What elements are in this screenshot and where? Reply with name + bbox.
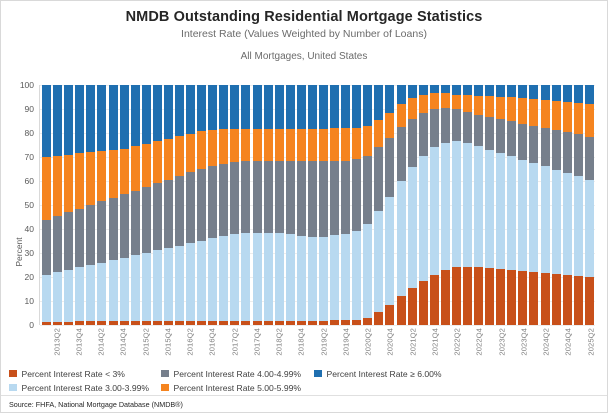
bar-segment (430, 147, 439, 274)
bar-segment (430, 109, 439, 147)
bar-segment (253, 85, 262, 129)
bar-segment (97, 151, 106, 201)
x-tick-label: 2018Q4 (297, 328, 306, 356)
bar-segment (363, 85, 372, 126)
x-tick-label: 2019Q2 (319, 328, 328, 356)
bar-segment (363, 224, 372, 318)
bar-segment (230, 85, 239, 129)
bar-segment (164, 180, 173, 248)
y-tick-label: 60 (25, 177, 34, 185)
bar-segment (120, 194, 129, 258)
bar-segment (319, 85, 328, 129)
bar-segment (385, 197, 394, 305)
bar-segment (75, 209, 84, 268)
bar-column[interactable] (208, 85, 217, 325)
legend-5to599[interactable]: Percent Interest Rate 5.00-5.99% (161, 383, 301, 393)
bar-segment (441, 270, 450, 325)
bar-segment (330, 161, 339, 235)
bar-segment (529, 99, 538, 125)
bar-segment (341, 234, 350, 320)
x-tick-label: 2025Q2 (586, 328, 595, 356)
bar-column[interactable] (441, 85, 450, 325)
y-tick-label: 50 (25, 201, 34, 209)
bar-segment (86, 85, 95, 152)
bar-segment (374, 120, 383, 148)
bar-segment (53, 272, 62, 321)
bar-segment (275, 233, 284, 321)
bar-segment (241, 129, 250, 161)
bar-segment (552, 130, 561, 170)
bar-column[interactable] (186, 85, 195, 325)
bar-segment (264, 85, 273, 129)
bar-segment (585, 104, 594, 136)
bar-segment (363, 126, 372, 156)
bar-segment (463, 112, 472, 143)
bar-segment (197, 131, 206, 168)
bar-segment (64, 85, 73, 155)
bar-segment (97, 201, 106, 262)
bar-column[interactable] (219, 85, 228, 325)
bar-segment (131, 191, 140, 256)
bar-segment (529, 85, 538, 99)
bar-segment (518, 160, 527, 272)
bar-segment (86, 152, 95, 205)
bar-segment (297, 161, 306, 235)
bar-segment (441, 93, 450, 107)
chart-frame: NMDB Outstanding Residential Mortgage St… (0, 0, 608, 413)
bar-segment (552, 274, 561, 325)
bar-segment (352, 231, 361, 320)
bar-segment (230, 162, 239, 234)
bar-segment (452, 95, 461, 109)
bar-segment (109, 260, 118, 321)
bar-segment (230, 129, 239, 163)
bar-segment (585, 137, 594, 180)
bar-segment (352, 128, 361, 159)
bar-segment (430, 93, 439, 109)
legend-label: Percent Interest Rate 3.00-3.99% (22, 383, 150, 393)
bar-segment (374, 147, 383, 211)
bar-segment (97, 85, 106, 151)
bar-column[interactable] (430, 85, 439, 325)
bar-segment (275, 85, 284, 129)
bar-segment (308, 237, 317, 321)
bar-segment (574, 85, 583, 103)
bar-segment (507, 85, 516, 97)
x-tick-label: 2022Q2 (453, 328, 462, 356)
bar-segment (452, 141, 461, 267)
bar-segment (441, 85, 450, 93)
bar-segment (463, 267, 472, 325)
plot-canvas (39, 85, 595, 325)
chart-subtitle: Interest Rate (Values Weighted by Number… (1, 27, 607, 42)
bar-segment (275, 161, 284, 233)
bar-segment (518, 271, 527, 325)
bar-column[interactable] (142, 85, 151, 325)
bar-segment (408, 167, 417, 288)
y-tick-label: 0 (29, 321, 34, 329)
bar-column[interactable] (131, 85, 140, 325)
bar-segment (474, 267, 483, 325)
bar-segment (541, 85, 550, 100)
x-tick-label: 2021Q4 (430, 328, 439, 356)
y-tick-label: 10 (25, 297, 34, 305)
bar-column[interactable] (452, 85, 461, 325)
bar-segment (186, 85, 195, 134)
bar-segment (53, 216, 62, 272)
bar-segment (253, 161, 262, 233)
x-tick-label: 2016Q4 (208, 328, 217, 356)
bar-segment (241, 85, 250, 129)
bar-segment (507, 121, 516, 156)
bar-segment (153, 85, 162, 141)
x-tick-label: 2021Q2 (408, 328, 417, 356)
bar-column[interactable] (241, 85, 250, 325)
legend-row: Percent Interest Rate < 3%Percent Intere… (9, 367, 608, 380)
plot-area: Percent 1009080706050403020100 2013Q2201… (1, 79, 608, 351)
bar-segment (529, 272, 538, 325)
legend-swatch (314, 370, 322, 378)
bar-segment (341, 128, 350, 160)
x-tick-label: 2016Q2 (186, 328, 195, 356)
bar-segment (385, 305, 394, 325)
bar-segment (253, 129, 262, 161)
bar-column[interactable] (86, 85, 95, 325)
legend-swatch (9, 384, 17, 392)
legend-swatch (9, 370, 17, 378)
bar-segment (563, 173, 572, 275)
bar-column[interactable] (585, 85, 594, 325)
bar-segment (286, 161, 295, 234)
bar-segment (186, 243, 195, 321)
bar-segment (541, 100, 550, 128)
bar-segment (408, 85, 417, 98)
bar-segment (452, 267, 461, 325)
bar-segment (385, 138, 394, 197)
x-tick-label: 2024Q2 (542, 328, 551, 356)
bar-segment (585, 85, 594, 104)
x-tick-label: 2014Q2 (97, 328, 106, 356)
bar-column[interactable] (485, 85, 494, 325)
bar-segment (186, 134, 195, 172)
bar-column[interactable] (109, 85, 118, 325)
bar-segment (208, 238, 217, 321)
bar-segment (53, 156, 62, 216)
bar-segment (175, 136, 184, 176)
bar-segment (175, 176, 184, 246)
y-tick-label: 90 (25, 105, 34, 113)
bar-segment (164, 139, 173, 180)
bar-segment (496, 153, 505, 269)
bar-column[interactable] (419, 85, 428, 325)
bar-segment (308, 85, 317, 129)
x-tick-label: 2018Q2 (275, 328, 284, 356)
bar-segment (153, 141, 162, 183)
bar-segment (541, 128, 550, 166)
bar-segment (552, 101, 561, 130)
bar-segment (397, 181, 406, 296)
bar-segment (297, 85, 306, 129)
bar-segment (219, 85, 228, 129)
bar-segment (397, 85, 406, 104)
bar-segment (131, 146, 140, 190)
bar-segment (485, 268, 494, 325)
bar-segment (153, 183, 162, 250)
y-tick-label: 40 (25, 225, 34, 233)
bar-segment (297, 236, 306, 321)
bar-segment (42, 275, 51, 322)
bar-segment (297, 129, 306, 161)
x-tick-label: 2020Q2 (364, 328, 373, 356)
bar-segment (241, 233, 250, 321)
bar-segment (363, 156, 372, 224)
bar-segment (430, 85, 439, 93)
bar-segment (164, 248, 173, 321)
bar-segment (53, 85, 62, 156)
bar-column[interactable] (330, 85, 339, 325)
x-tick-label: 2015Q4 (163, 328, 172, 356)
bar-segment (208, 166, 217, 238)
chart-titles: NMDB Outstanding Residential Mortgage St… (1, 1, 607, 64)
bar-segment (64, 212, 73, 270)
legend-label: Percent Interest Rate 4.00-4.99% (174, 369, 302, 379)
y-axis-ticks: 1009080706050403020100 (1, 79, 37, 351)
bar-segment (86, 265, 95, 321)
bar-segment (541, 273, 550, 325)
bar-column[interactable] (297, 85, 306, 325)
bar-segment (385, 113, 394, 138)
bar-segment (131, 255, 140, 321)
x-tick-label: 2013Q4 (74, 328, 83, 356)
y-tick-label: 100 (20, 81, 34, 89)
x-tick-label: 2013Q2 (52, 328, 61, 356)
bar-column[interactable] (397, 85, 406, 325)
bar-segment (485, 117, 494, 149)
bar-segment (419, 113, 428, 156)
bar-column[interactable] (253, 85, 262, 325)
bar-column[interactable] (552, 85, 561, 325)
stacked-bars (40, 85, 595, 325)
chart-title: NMDB Outstanding Residential Mortgage St… (1, 9, 607, 26)
bar-column[interactable] (64, 85, 73, 325)
bar-column[interactable] (496, 85, 505, 325)
bar-segment (341, 161, 350, 234)
legend-3to399[interactable]: Percent Interest Rate 3.00-3.99% (9, 383, 149, 393)
bar-segment (585, 277, 594, 325)
bar-column[interactable] (120, 85, 129, 325)
y-tick-label: 80 (25, 129, 34, 137)
bar-segment (308, 161, 317, 237)
bar-column[interactable] (529, 85, 538, 325)
bar-column[interactable] (374, 85, 383, 325)
bar-segment (397, 296, 406, 325)
bar-segment (574, 103, 583, 134)
bar-segment (120, 85, 129, 149)
bar-segment (120, 149, 129, 195)
bar-segment (518, 85, 527, 98)
bar-segment (97, 263, 106, 322)
bar-segment (474, 85, 483, 96)
bar-segment (485, 85, 494, 96)
x-tick-label: 2024Q4 (564, 328, 573, 356)
bar-segment (408, 119, 417, 167)
bar-segment (197, 85, 206, 131)
bar-segment (485, 96, 494, 118)
legend-ge6[interactable]: Percent Interest Rate ≥ 6.00% (314, 369, 442, 379)
bar-segment (552, 85, 561, 101)
bar-segment (463, 143, 472, 267)
bar-segment (164, 85, 173, 139)
bar-column[interactable] (463, 85, 472, 325)
y-tick-label: 20 (25, 273, 34, 281)
bar-segment (507, 97, 516, 121)
bar-segment (131, 85, 140, 146)
bar-segment (496, 85, 505, 97)
source-note: Source: FHFA, National Mortgage Database… (1, 396, 608, 409)
legend-lt3[interactable]: Percent Interest Rate < 3% (9, 369, 125, 379)
x-tick-label: 2017Q4 (252, 328, 261, 356)
bar-segment (363, 318, 372, 325)
x-tick-label: 2019Q4 (341, 328, 350, 356)
bar-column[interactable] (474, 85, 483, 325)
bar-segment (109, 85, 118, 150)
bar-segment (419, 156, 428, 281)
bar-segment (419, 95, 428, 113)
bar-column[interactable] (53, 85, 62, 325)
bar-segment (64, 270, 73, 322)
bar-column[interactable] (352, 85, 361, 325)
bar-column[interactable] (153, 85, 162, 325)
bar-segment (374, 211, 383, 312)
bar-segment (42, 157, 51, 219)
bar-column[interactable] (518, 85, 527, 325)
bar-segment (219, 164, 228, 236)
bar-segment (496, 119, 505, 153)
bar-segment (374, 85, 383, 120)
bar-segment (75, 267, 84, 321)
bar-segment (286, 234, 295, 320)
bar-segment (441, 143, 450, 270)
bar-segment (419, 85, 428, 95)
bar-column[interactable] (341, 85, 350, 325)
bar-column[interactable] (42, 85, 51, 325)
bar-segment (552, 170, 561, 274)
bar-segment (42, 220, 51, 275)
bar-column[interactable] (385, 85, 394, 325)
bar-segment (563, 275, 572, 325)
x-tick-label: 2014Q4 (119, 328, 128, 356)
bar-segment (474, 115, 483, 146)
bar-column[interactable] (230, 85, 239, 325)
bar-segment (175, 246, 184, 322)
bar-segment (264, 161, 273, 233)
bar-segment (507, 156, 516, 270)
bar-segment (319, 129, 328, 161)
bar-segment (330, 85, 339, 128)
bar-segment (208, 85, 217, 130)
bar-segment (109, 150, 118, 198)
bar-column[interactable] (75, 85, 84, 325)
bar-segment (241, 161, 250, 233)
bar-segment (474, 96, 483, 115)
bar-segment (452, 109, 461, 141)
bar-segment (319, 161, 328, 237)
bar-segment (485, 150, 494, 269)
bar-segment (208, 130, 217, 166)
bar-column[interactable] (286, 85, 295, 325)
bar-segment (142, 187, 151, 253)
bar-column[interactable] (164, 85, 173, 325)
x-tick-label: 2023Q4 (519, 328, 528, 356)
bar-column[interactable] (197, 85, 206, 325)
chart-scope-label: All Mortgages, United States (1, 49, 607, 64)
bar-segment (175, 85, 184, 136)
x-tick-label: 2015Q2 (141, 328, 150, 356)
bar-segment (574, 276, 583, 325)
legend-swatch (161, 384, 169, 392)
bar-segment (496, 97, 505, 120)
bar-segment (574, 134, 583, 176)
bar-column[interactable] (175, 85, 184, 325)
bar-column[interactable] (264, 85, 273, 325)
bar-segment (529, 163, 538, 272)
bar-segment (219, 236, 228, 321)
bar-segment (507, 270, 516, 325)
x-tick-label: 2023Q2 (497, 328, 506, 356)
bar-column[interactable] (308, 85, 317, 325)
y-tick-label: 30 (25, 249, 34, 257)
bar-segment (264, 233, 273, 321)
bar-segment (109, 198, 118, 260)
x-tick-label: 2017Q2 (230, 328, 239, 356)
bar-segment (463, 95, 472, 112)
bar-column[interactable] (363, 85, 372, 325)
bar-segment (219, 129, 228, 164)
bar-column[interactable] (319, 85, 328, 325)
bar-segment (518, 98, 527, 123)
bar-segment (352, 85, 361, 128)
bar-column[interactable] (574, 85, 583, 325)
bar-column[interactable] (408, 85, 417, 325)
bar-segment (319, 237, 328, 321)
bar-column[interactable] (507, 85, 516, 325)
bar-segment (253, 233, 262, 321)
bar-column[interactable] (541, 85, 550, 325)
bar-segment (120, 258, 129, 322)
legend-swatch (161, 370, 169, 378)
bar-segment (142, 85, 151, 144)
bar-segment (275, 129, 284, 161)
bar-segment (197, 241, 206, 321)
bar-segment (585, 180, 594, 277)
bar-column[interactable] (97, 85, 106, 325)
bar-segment (463, 85, 472, 95)
bar-segment (374, 312, 383, 325)
bar-segment (563, 102, 572, 132)
bar-segment (75, 85, 84, 153)
bar-segment (330, 235, 339, 320)
bar-column[interactable] (563, 85, 572, 325)
bar-segment (385, 85, 394, 113)
legend-4to499[interactable]: Percent Interest Rate 4.00-4.99% (161, 369, 301, 379)
y-tick-label: 70 (25, 153, 34, 161)
bar-segment (264, 129, 273, 161)
bar-segment (153, 250, 162, 321)
bar-column[interactable] (275, 85, 284, 325)
legend-label: Percent Interest Rate 5.00-5.99% (174, 383, 302, 393)
bar-segment (75, 153, 84, 208)
bar-segment (419, 281, 428, 325)
